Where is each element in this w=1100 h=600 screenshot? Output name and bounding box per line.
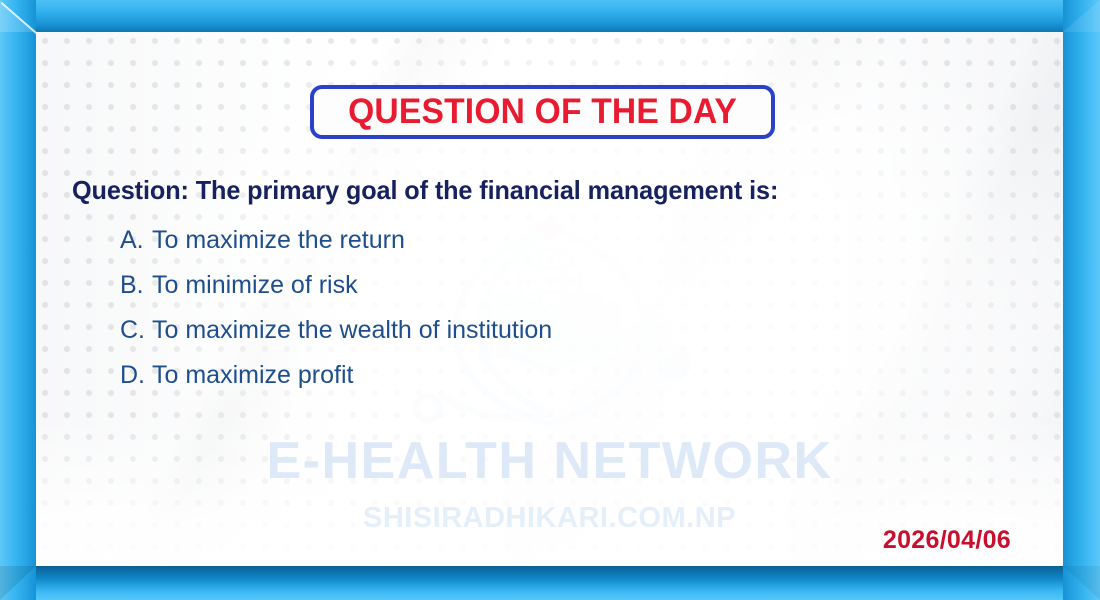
option-letter-a: A.	[120, 226, 152, 255]
answer-option-b[interactable]: B. To minimize of risk	[120, 271, 1000, 316]
watermark-brand-text: E-HEALTH NETWORK	[36, 431, 1063, 491]
title-badge: QUESTION OF THE DAY	[310, 85, 775, 139]
date-label: 2026/04/06	[883, 526, 1011, 555]
frame-border-top	[0, 0, 1100, 32]
answer-option-c[interactable]: C. To maximize the wealth of institution	[120, 316, 1000, 361]
answer-options-list: A. To maximize the return B. To minimize…	[120, 226, 1000, 406]
frame-bevel-top-right	[1063, 0, 1100, 32]
answer-option-d[interactable]: D. To maximize profit	[120, 361, 1000, 406]
frame-bevel-bottom-right	[1063, 566, 1100, 600]
option-letter-b: B.	[120, 271, 152, 300]
option-text-d: To maximize profit	[152, 361, 353, 390]
option-letter-d: D.	[120, 361, 152, 390]
option-letter-c: C.	[120, 316, 152, 345]
option-text-c: To maximize the wealth of institution	[152, 316, 552, 345]
frame-border-right	[1063, 0, 1100, 600]
frame-border-bottom	[0, 566, 1100, 600]
option-text-a: To maximize the return	[152, 226, 405, 255]
frame-bevel-bottom-left	[0, 566, 36, 600]
poster-frame: E-HEALTH NETWORK SHISIRADHIKARI.COM.NP Q…	[0, 0, 1100, 600]
question-text: Question: The primary goal of the financ…	[72, 175, 1003, 206]
frame-border-left	[0, 0, 36, 600]
option-text-b: To minimize of risk	[152, 271, 358, 300]
answer-option-a[interactable]: A. To maximize the return	[120, 226, 1000, 271]
page-title: QUESTION OF THE DAY	[348, 92, 737, 132]
content-surface: E-HEALTH NETWORK SHISIRADHIKARI.COM.NP Q…	[36, 32, 1063, 566]
